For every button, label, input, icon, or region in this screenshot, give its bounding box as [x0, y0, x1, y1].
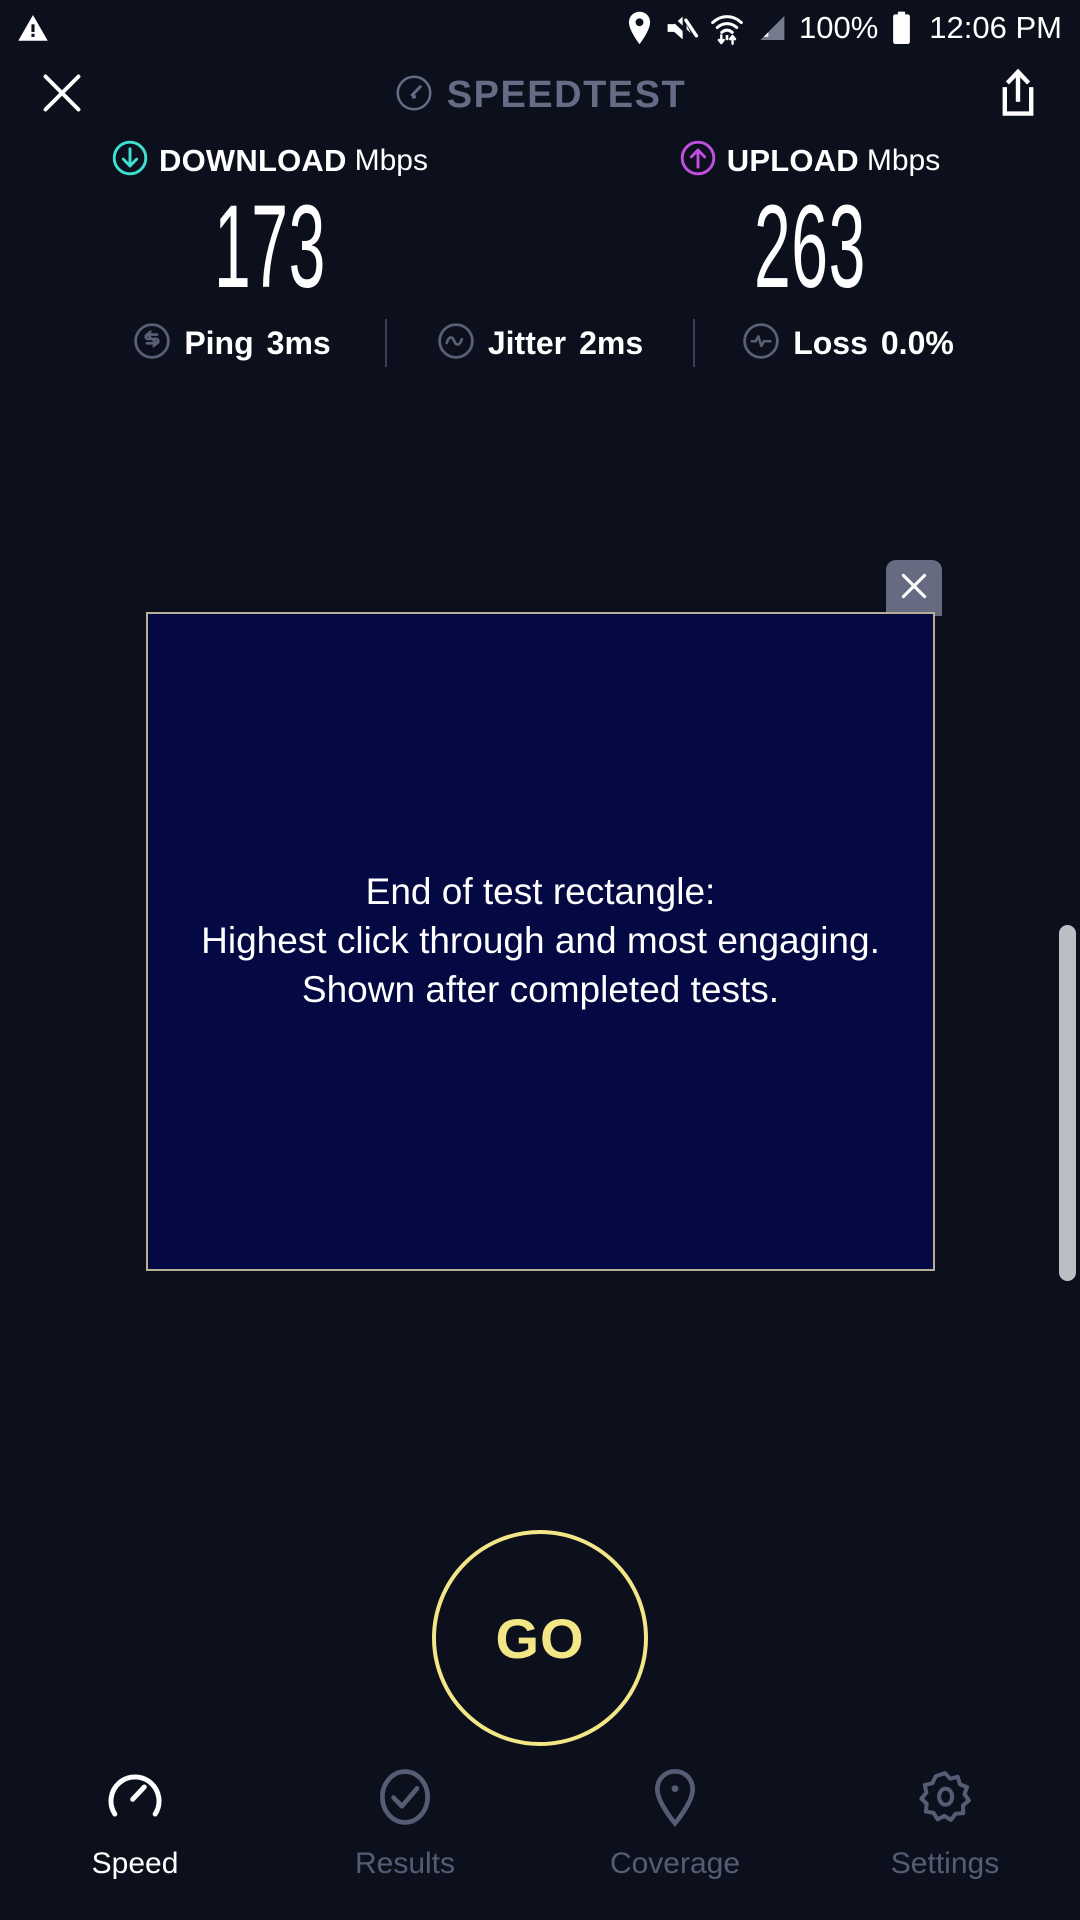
clock-label: 12:06 PM	[929, 10, 1062, 46]
share-icon	[996, 68, 1040, 123]
app-header: SPEEDTEST	[0, 56, 1080, 134]
close-icon	[897, 569, 931, 608]
loss-label: Loss	[793, 325, 868, 362]
battery-percent-label: 100%	[799, 10, 878, 46]
speedtest-app-screen: 100% 12:06 PM	[0, 0, 1080, 1920]
metrics-row: Ping 3ms Jitter 2ms	[0, 319, 1080, 367]
nav-label-settings: Settings	[891, 1847, 999, 1881]
download-unit: Mbps	[355, 144, 428, 178]
go-button-label: GO	[495, 1606, 584, 1671]
share-result-button[interactable]	[990, 65, 1046, 125]
ad-text: End of test rectangle: Highest click thr…	[191, 868, 890, 1014]
jitter-value: 2ms	[579, 325, 643, 362]
speeds-row: DOWNLOAD Mbps 173 UPLOAD Mbps	[0, 140, 1080, 307]
upload-value: 263	[754, 187, 866, 307]
speedometer-icon	[104, 1766, 166, 1833]
download-result: DOWNLOAD Mbps 173	[0, 140, 540, 307]
download-value: 173	[214, 187, 326, 307]
ping-label: Ping	[184, 325, 253, 362]
nav-item-coverage[interactable]: Coverage	[540, 1750, 810, 1920]
wifi-icon	[711, 11, 743, 45]
nav-label-speed: Speed	[92, 1847, 179, 1881]
battery-full-icon	[890, 11, 913, 45]
test-results-panel: DOWNLOAD Mbps 173 UPLOAD Mbps	[0, 140, 1080, 367]
upload-unit: Mbps	[867, 144, 940, 178]
loss-value: 0.0%	[881, 325, 954, 362]
brand-logo: SPEEDTEST	[394, 73, 686, 118]
download-arrow-icon	[112, 140, 148, 181]
advertisement-banner[interactable]: End of test rectangle: Highest click thr…	[146, 612, 935, 1271]
status-bar-right: 100% 12:06 PM	[626, 10, 1062, 46]
close-test-button[interactable]	[34, 67, 90, 123]
nav-label-coverage: Coverage	[610, 1847, 740, 1881]
metric-jitter: Jitter 2ms	[387, 322, 693, 365]
check-circle-icon	[374, 1766, 436, 1833]
status-bar-left	[16, 11, 50, 45]
nav-label-results: Results	[355, 1847, 455, 1881]
map-pin-icon	[644, 1766, 706, 1833]
upload-label-row: UPLOAD Mbps	[680, 140, 940, 181]
brand-title: SPEEDTEST	[447, 74, 686, 117]
gear-icon	[914, 1766, 976, 1833]
metric-loss: Loss 0.0%	[695, 322, 1001, 365]
go-button[interactable]: GO	[432, 1530, 648, 1746]
speedometer-icon	[394, 73, 434, 118]
nav-item-settings[interactable]: Settings	[810, 1750, 1080, 1920]
nav-item-speed[interactable]: Speed	[0, 1750, 270, 1920]
close-icon	[38, 69, 86, 122]
location-pin-icon	[626, 11, 653, 45]
bottom-navigation-bar: Speed Results Coverage	[0, 1750, 1080, 1920]
warning-triangle-icon	[16, 11, 50, 45]
upload-result: UPLOAD Mbps 263	[540, 140, 1080, 307]
jitter-icon	[437, 322, 475, 365]
metric-ping: Ping 3ms	[79, 322, 385, 365]
download-label: DOWNLOAD	[159, 143, 347, 179]
upload-label: UPLOAD	[727, 143, 859, 179]
ad-close-button[interactable]	[886, 560, 942, 616]
ping-value: 3ms	[267, 325, 331, 362]
ping-icon	[133, 322, 171, 365]
loss-icon	[742, 322, 780, 365]
volume-mute-icon	[665, 12, 699, 44]
jitter-label: Jitter	[488, 325, 566, 362]
page-scrollbar[interactable]	[1059, 925, 1076, 1281]
nav-item-results[interactable]: Results	[270, 1750, 540, 1920]
system-status-bar: 100% 12:06 PM	[0, 0, 1080, 56]
upload-arrow-icon	[680, 140, 716, 181]
download-label-row: DOWNLOAD Mbps	[112, 140, 428, 181]
cellular-signal-icon	[755, 12, 787, 44]
